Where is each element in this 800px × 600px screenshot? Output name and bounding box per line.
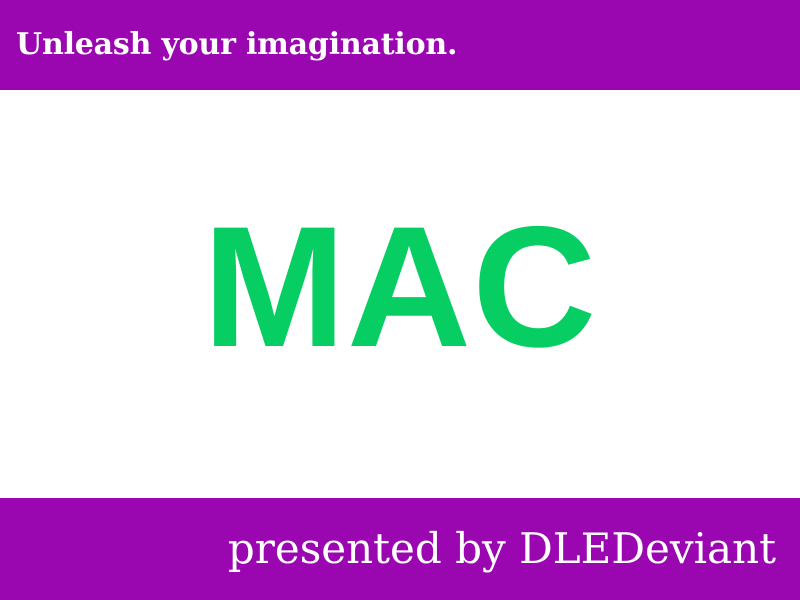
top-banner: Unleash your imagination. <box>0 0 800 90</box>
credit-text: presented by DLEDeviant <box>228 528 776 570</box>
slide-body: MAC <box>0 90 800 498</box>
headline-text: MAC <box>203 201 598 373</box>
tagline-text: Unleash your imagination. <box>16 30 457 60</box>
bottom-banner: presented by DLEDeviant <box>0 498 800 600</box>
presentation-slide: Unleash your imagination. MAC presented … <box>0 0 800 600</box>
